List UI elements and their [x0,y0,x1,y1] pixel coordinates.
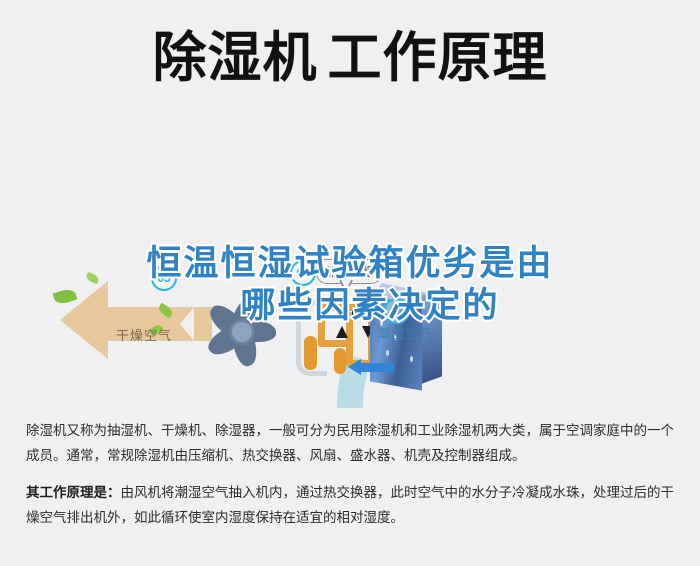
dry-air-label: 干燥空气 [116,325,172,344]
overlay-headline-line2: 哪些因素决定的 [0,285,700,327]
page-title: 除湿机工作原理 [0,28,700,88]
body-paragraph-2: 其工作原理是：由风机将潮湿空气抽入机内，通过热交换器，此时空气中的水分子冷凝成水… [26,480,676,530]
body-paragraph-1: 除湿机又称为抽湿机、干燥机、除湿器，一般可分为民用除湿机和工业除湿机两大类，属于… [26,418,676,468]
article-body: 除湿机又称为抽湿机、干燥机、除湿器，一般可分为民用除湿机和工业除湿机两大类，属于… [26,418,676,542]
page-title-part2: 工作原理 [328,28,548,88]
page-title-part1: 除湿机 [153,28,318,88]
overlay-headline: 恒温恒湿试验箱优劣是由 哪些因素决定的 [0,243,700,327]
overlay-headline-line1: 恒温恒湿试验箱优劣是由 [0,243,700,285]
page-root: 除湿机工作原理 [0,0,700,566]
air-intake-arrow [348,359,394,375]
body-paragraph-2-rest: 由风机将潮湿空气抽入机内，通过热交换器，此时空气中的水分子冷凝成水珠，处理过后的… [26,485,674,525]
body-paragraph-2-lead: 其工作原理是： [26,485,121,500]
